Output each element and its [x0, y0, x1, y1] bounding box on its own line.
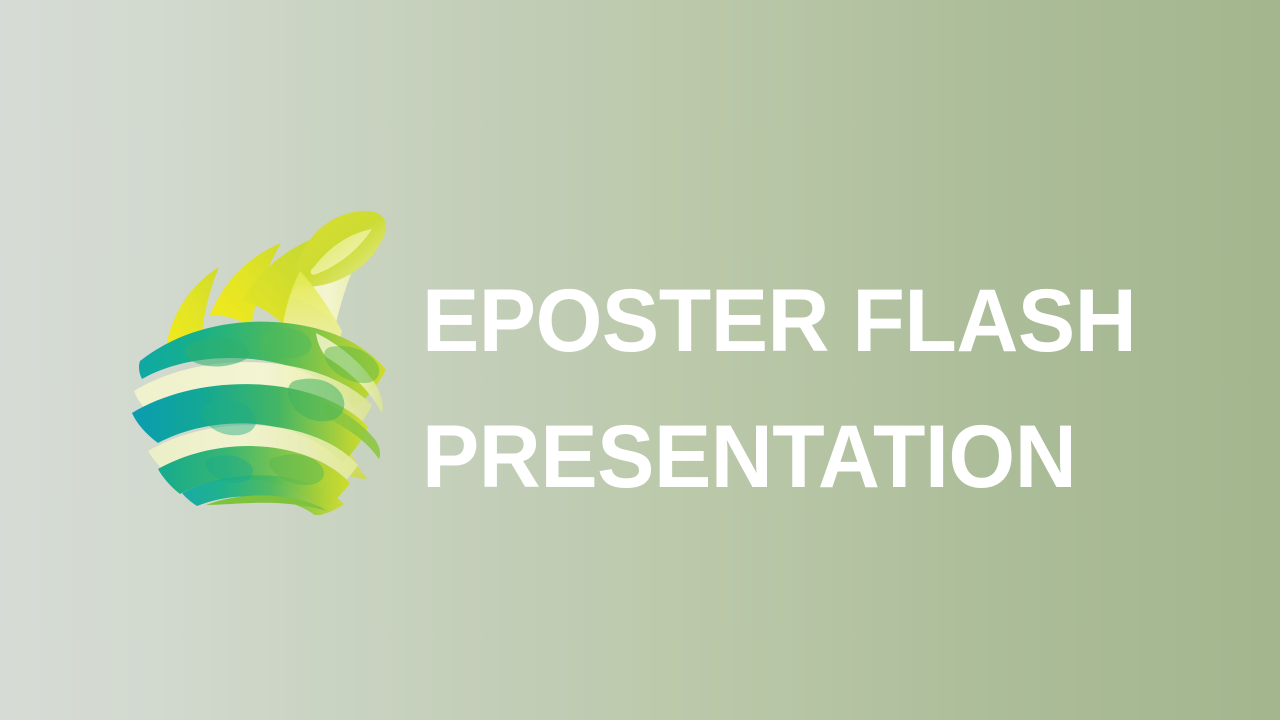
- globe-ribbon-leaf-logo: [118, 205, 408, 515]
- page-title: EPOSTER FLASH PRESENTATION: [422, 252, 1212, 524]
- title-line-1: EPOSTER FLASH: [422, 252, 1184, 388]
- globe-ribbons: [132, 211, 386, 515]
- slide-canvas: EPOSTER FLASH PRESENTATION: [0, 0, 1280, 720]
- title-line-2: PRESENTATION: [422, 388, 1184, 524]
